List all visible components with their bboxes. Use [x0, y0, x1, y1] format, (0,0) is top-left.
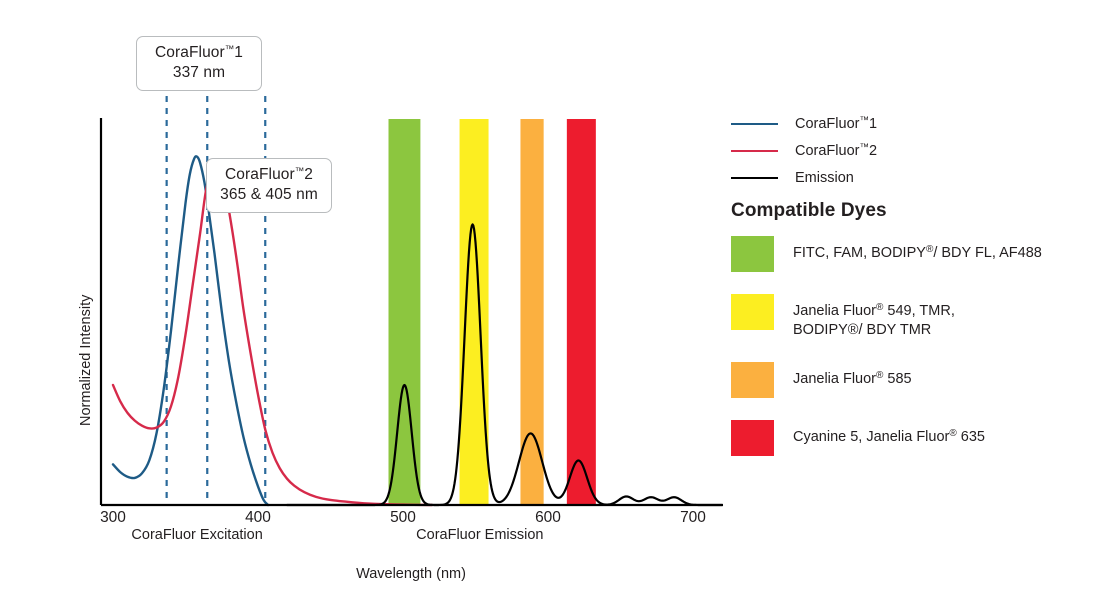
dye-item-1: FITC, FAM, BODIPY®/ BDY FL, AF488	[731, 236, 1091, 272]
registered-symbol: ®	[876, 302, 883, 313]
legend-item-2: CoraFluor™2	[731, 137, 1081, 164]
dye-item-2: Janelia Fluor® 549, TMR,BODIPY®/ BDY TMR	[731, 294, 1091, 340]
y-axis-title-text: Normalized Intensity	[78, 236, 94, 426]
legend-item-label: CoraFluor™2	[795, 142, 877, 159]
callout-1-line2: 337 nm	[149, 63, 249, 83]
y-axis-title: Normalized Intensity	[56, 46, 72, 236]
callout-corafluor-1: CoraFluor™1 337 nm	[136, 36, 262, 91]
curve-emission	[287, 224, 722, 505]
x-tick-label-400: 400	[245, 509, 271, 527]
trademark-symbol: ™	[295, 166, 305, 177]
registered-symbol: ®	[949, 428, 956, 439]
legend-line-swatch	[731, 150, 778, 152]
legend-item-label: Emission	[795, 170, 854, 186]
dye-item-label: Janelia Fluor® 585	[793, 362, 912, 389]
chart-root: CoraFluor™1 337 nm CoraFluor™2 365 & 405…	[0, 0, 1110, 612]
compatible-dyes-title: Compatible Dyes	[731, 200, 887, 222]
dye-label-line1: Janelia Fluor® 549, TMR,	[793, 303, 955, 319]
dye-label-line2: BODIPY®/ BDY TMR	[793, 321, 955, 340]
dye-color-swatch	[731, 294, 774, 330]
x-tick-label-300: 300	[100, 509, 126, 527]
legend-item-3: Emission	[731, 164, 1081, 191]
registered-symbol: ®	[876, 370, 883, 381]
dye-item-label: Cyanine 5, Janelia Fluor® 635	[793, 420, 985, 447]
curve-corafluor-2	[113, 167, 432, 505]
dye-item-label: FITC, FAM, BODIPY®/ BDY FL, AF488	[793, 236, 1042, 263]
yellow-band	[460, 119, 489, 505]
x-axis-title: Wavelength (nm)	[356, 566, 466, 582]
series-legend: CoraFluor™1CoraFluor™2Emission	[731, 110, 1081, 191]
callout-2-line2: 365 & 405 nm	[219, 185, 319, 205]
registered-symbol: ®	[926, 244, 933, 255]
dye-item-4: Cyanine 5, Janelia Fluor® 635	[731, 420, 1091, 456]
callout-1-line1: CoraFluor™1	[149, 43, 249, 63]
legend-line-swatch	[731, 123, 778, 125]
trademark-symbol: ™	[859, 115, 869, 126]
green-band	[389, 119, 421, 505]
dye-label-line1: Cyanine 5, Janelia Fluor® 635	[793, 429, 985, 445]
x-tick-label-600: 600	[535, 509, 561, 527]
region-label-emission: CoraFluor Emission	[416, 527, 543, 543]
red-band	[567, 119, 596, 505]
legend-item-1: CoraFluor™1	[731, 110, 1081, 137]
dye-color-swatch	[731, 236, 774, 272]
dye-item-3: Janelia Fluor® 585	[731, 362, 1091, 398]
dye-label-line1: Janelia Fluor® 585	[793, 371, 912, 387]
trademark-symbol: ™	[859, 142, 869, 153]
dye-item-label: Janelia Fluor® 549, TMR,BODIPY®/ BDY TMR	[793, 294, 955, 340]
region-label-excitation: CoraFluor Excitation	[131, 527, 262, 543]
trademark-symbol: ™	[225, 44, 235, 55]
legend-item-label: CoraFluor™1	[795, 115, 877, 132]
dye-color-swatch	[731, 362, 774, 398]
callout-2-line1: CoraFluor™2	[219, 165, 319, 185]
legend-line-swatch	[731, 177, 778, 179]
dye-color-swatch	[731, 420, 774, 456]
x-tick-label-700: 700	[680, 509, 706, 527]
dye-label-line1: FITC, FAM, BODIPY®/ BDY FL, AF488	[793, 245, 1042, 261]
compatible-dyes-list: FITC, FAM, BODIPY®/ BDY FL, AF488Janelia…	[731, 236, 1091, 478]
callout-corafluor-2: CoraFluor™2 365 & 405 nm	[206, 158, 332, 213]
x-tick-label-500: 500	[390, 509, 416, 527]
